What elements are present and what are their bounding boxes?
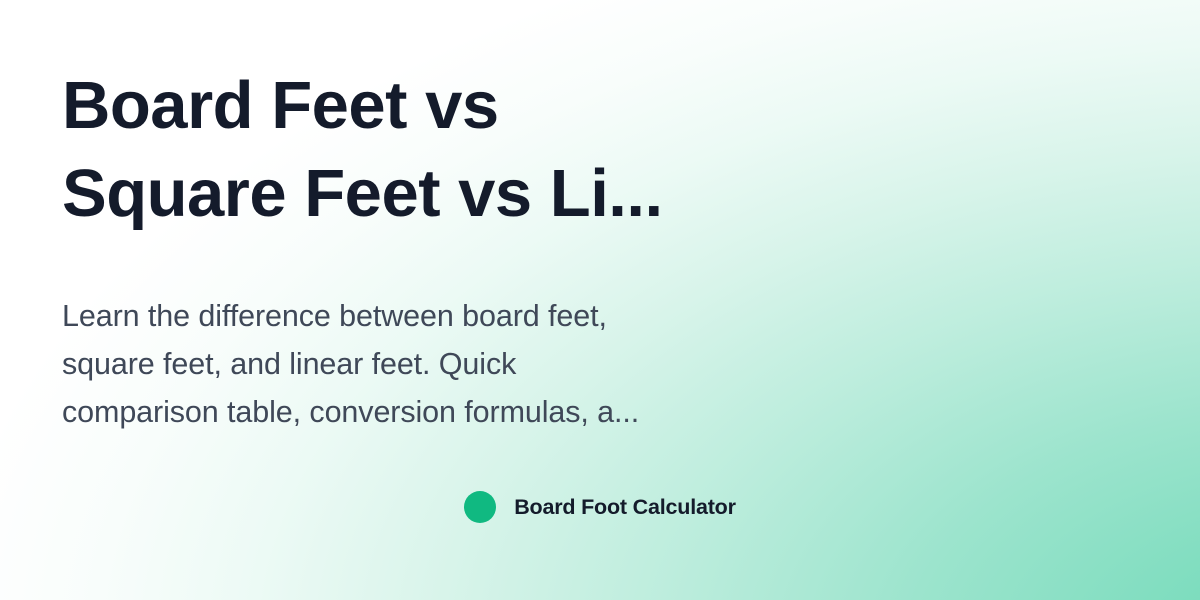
brand-dot-icon — [464, 491, 496, 523]
brand-name: Board Foot Calculator — [514, 491, 736, 523]
page-description: Learn the difference between board feet,… — [62, 292, 802, 436]
page-title: Board Feet vs Square Feet vs Li... — [62, 62, 792, 238]
card-content: Board Feet vs Square Feet vs Li... Learn… — [0, 0, 1200, 600]
social-share-card: Board Feet vs Square Feet vs Li... Learn… — [0, 0, 1200, 600]
brand-row: Board Foot Calculator — [0, 491, 1200, 523]
